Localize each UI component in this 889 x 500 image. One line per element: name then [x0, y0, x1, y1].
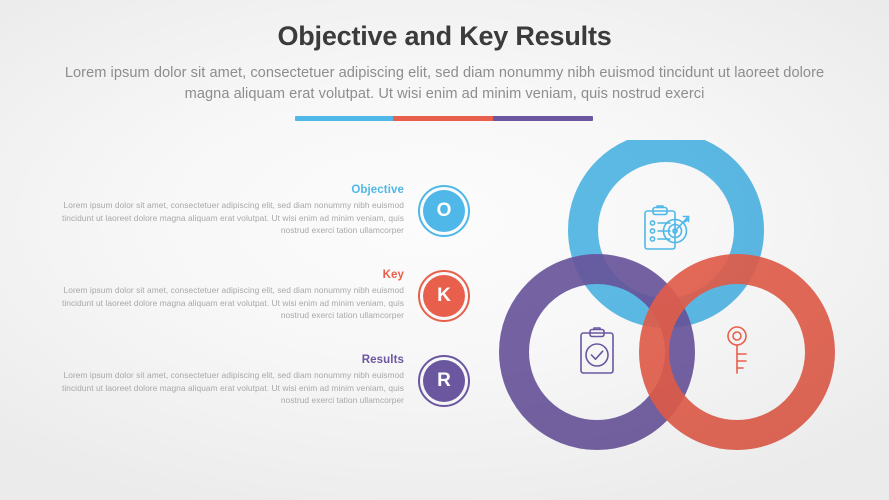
list-item-results[interactable]: Results Lorem ipsum dolor sit amet, cons… — [60, 338, 470, 423]
list-item-text: Key Lorem ipsum dolor sit amet, consecte… — [60, 269, 418, 322]
list-item-label: Objective — [60, 184, 404, 196]
badge-letter: O — [437, 201, 452, 220]
list-item-label: Key — [60, 269, 404, 281]
okr-list: Objective Lorem ipsum dolor sit amet, co… — [60, 168, 470, 423]
accent-divider — [295, 116, 593, 121]
badge-objective[interactable]: O — [418, 185, 470, 237]
list-item-text: Results Lorem ipsum dolor sit amet, cons… — [60, 354, 418, 407]
list-item-objective[interactable]: Objective Lorem ipsum dolor sit amet, co… — [60, 168, 470, 253]
clipboard-check-icon — [581, 328, 613, 373]
slide-canvas: Objective and Key Results Lorem ipsum do… — [0, 0, 889, 500]
list-item-description: Lorem ipsum dolor sit amet, consectetuer… — [60, 369, 404, 407]
page-title: Objective and Key Results — [0, 22, 889, 52]
list-item-description: Lorem ipsum dolor sit amet, consectetuer… — [60, 199, 404, 237]
divider-segment-purple — [493, 116, 593, 121]
badge-results[interactable]: R — [418, 355, 470, 407]
page-subtitle: Lorem ipsum dolor sit amet, consectetuer… — [65, 63, 825, 106]
list-item-description: Lorem ipsum dolor sit amet, consectetuer… — [60, 284, 404, 322]
badge-letter: R — [437, 371, 451, 390]
key-icon — [728, 327, 746, 373]
divider-segment-blue — [295, 116, 393, 121]
badge-key[interactable]: K — [418, 270, 470, 322]
header: Objective and Key Results Lorem ipsum do… — [0, 22, 889, 106]
list-item-label: Results — [60, 354, 404, 366]
badge-letter: K — [437, 286, 451, 305]
list-item-key[interactable]: Key Lorem ipsum dolor sit amet, consecte… — [60, 253, 470, 338]
clipboard-target-icon — [645, 206, 689, 249]
list-item-text: Objective Lorem ipsum dolor sit amet, co… — [60, 184, 418, 237]
venn-diagram — [495, 140, 875, 470]
divider-segment-red — [393, 116, 493, 121]
